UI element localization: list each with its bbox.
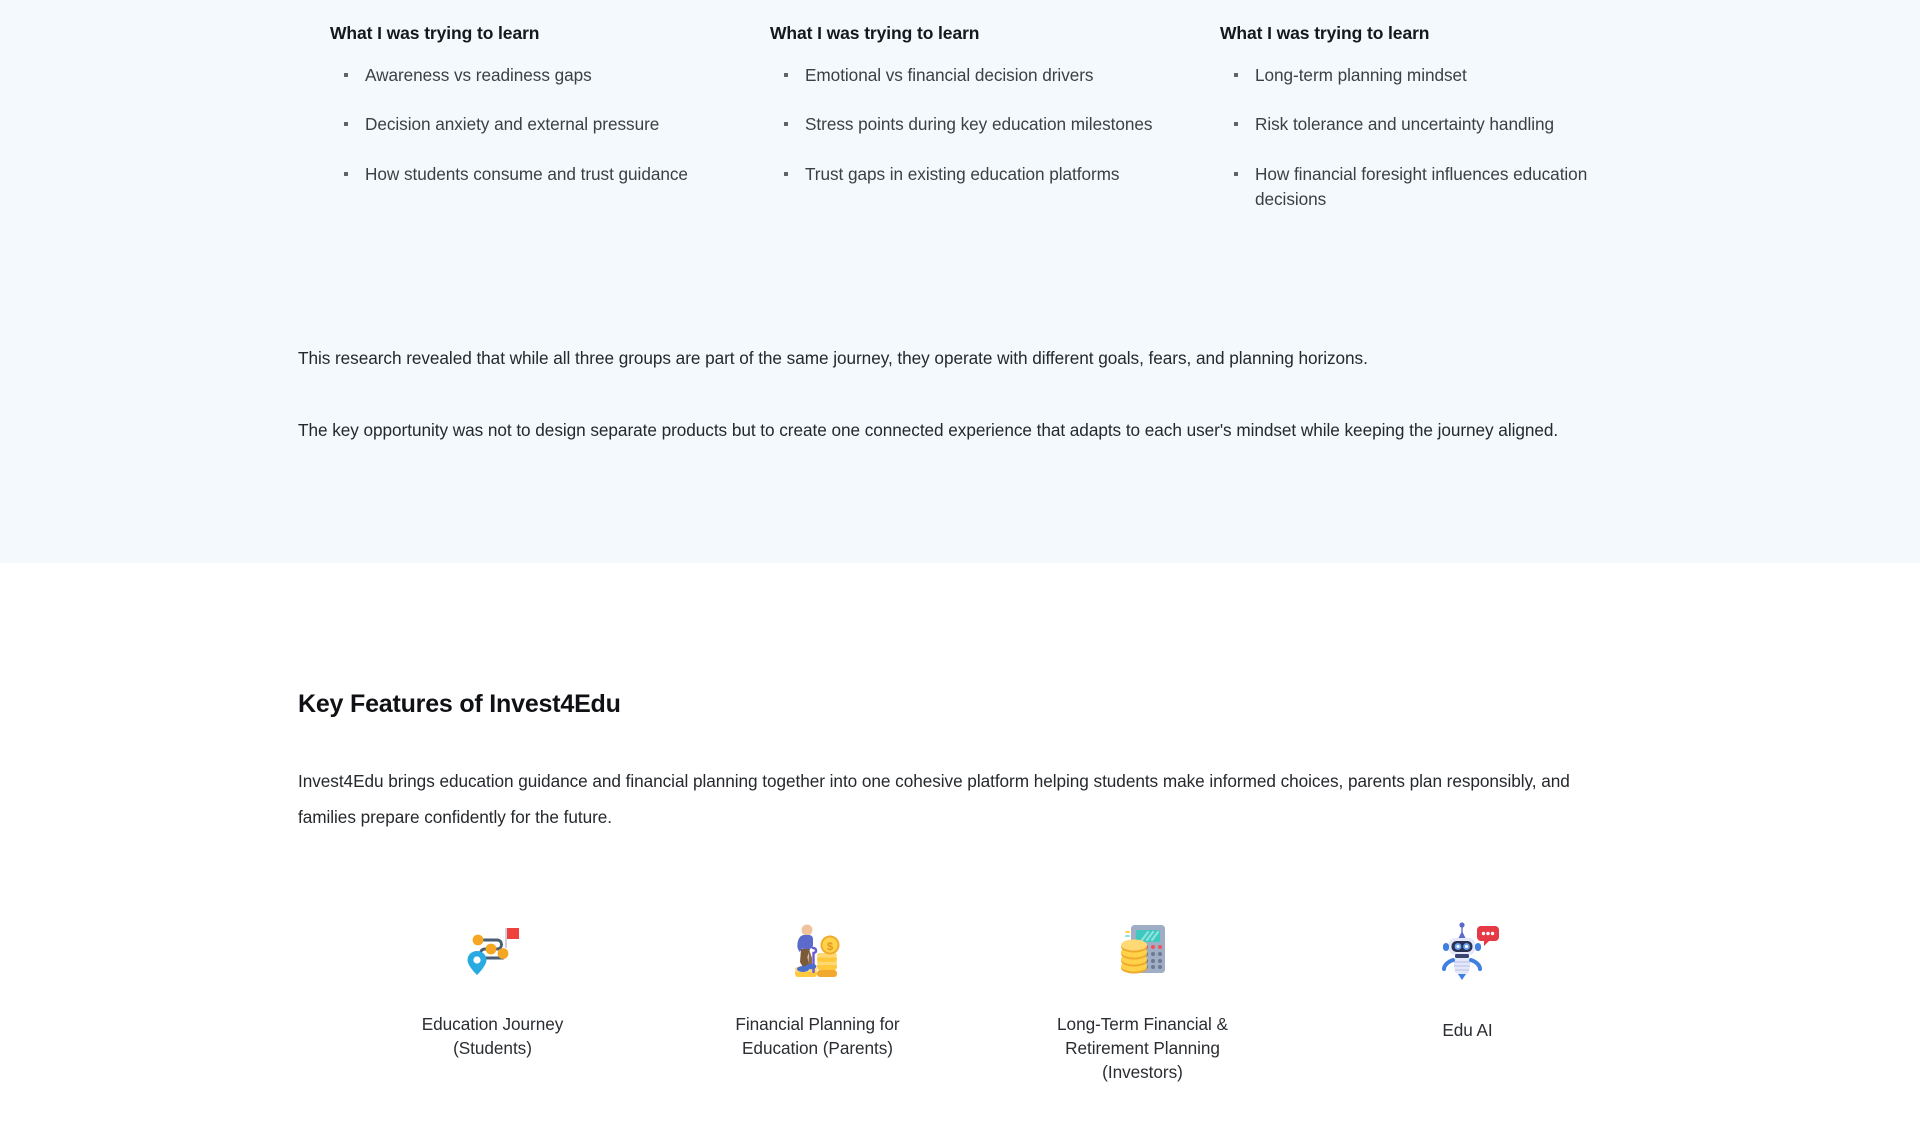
feature-label: Financial Planning for Education (Parent… — [718, 1012, 918, 1060]
list-item-label: Long-term planning mindset — [1255, 65, 1467, 85]
feature-item-retirement-planning[interactable]: Long-Term Financial & Retirement Plannin… — [980, 918, 1305, 1084]
feature-list: Education Journey (Students) — [330, 918, 1630, 1084]
list-item-label: Decision anxiety and external pressure — [365, 114, 659, 134]
summary-paragraph-1: This research revealed that while all th… — [298, 340, 1618, 376]
column-heading: What I was trying to learn — [1220, 22, 1590, 45]
list-item: Risk tolerance and uncertainty handling — [1228, 112, 1590, 137]
feature-item-education-journey[interactable]: Education Journey (Students) — [330, 918, 655, 1084]
coin-stairs-person-icon: $ — [785, 918, 851, 980]
research-summary: This research revealed that while all th… — [298, 340, 1618, 448]
list-item-label: Stress points during key education miles… — [805, 114, 1152, 134]
list-item: Trust gaps in existing education platfor… — [778, 162, 1180, 187]
research-columns: What I was trying to learn Awareness vs … — [330, 22, 1630, 213]
bullet-icon — [1234, 73, 1238, 77]
list-item-label: Risk tolerance and uncertainty handling — [1255, 114, 1554, 134]
learning-goals-list: Emotional vs financial decision drivers … — [770, 63, 1180, 187]
list-item: Emotional vs financial decision drivers — [778, 63, 1180, 88]
column-heading: What I was trying to learn — [330, 22, 730, 45]
learning-goals-list: Long-term planning mindset Risk toleranc… — [1220, 63, 1590, 213]
paragraph-spacer — [298, 376, 1618, 412]
list-item: Stress points during key education miles… — [778, 112, 1180, 137]
list-item: How financial foresight influences educa… — [1228, 162, 1590, 213]
feature-label: Long-Term Financial & Retirement Plannin… — [1043, 1012, 1243, 1084]
list-item: How students consume and trust guidance — [338, 162, 730, 187]
feature-item-edu-ai[interactable]: Edu AI — [1305, 918, 1630, 1084]
bullet-icon — [1234, 122, 1238, 126]
list-item-label: Emotional vs financial decision drivers — [805, 65, 1093, 85]
journey-roadmap-icon — [460, 918, 526, 980]
page-root: What I was trying to learn Awareness vs … — [0, 0, 1920, 1144]
list-item: Awareness vs readiness gaps — [338, 63, 730, 88]
key-features-section: Key Features of Invest4Edu Invest4Edu br… — [0, 563, 1920, 1144]
learning-goals-list: Awareness vs readiness gaps Decision anx… — [330, 63, 730, 187]
svg-text:$: $ — [826, 941, 832, 953]
column-heading: What I was trying to learn — [770, 22, 1180, 45]
bullet-icon — [784, 172, 788, 176]
section-intro: Invest4Edu brings education guidance and… — [298, 763, 1628, 835]
list-item-label: How financial foresight influences educa… — [1255, 164, 1587, 209]
calculator-coins-icon — [1110, 918, 1176, 980]
bullet-icon — [344, 122, 348, 126]
bullet-icon — [784, 122, 788, 126]
list-item-label: How students consume and trust guidance — [365, 164, 688, 184]
list-item-label: Trust gaps in existing education platfor… — [805, 164, 1119, 184]
list-item: Decision anxiety and external pressure — [338, 112, 730, 137]
feature-label: Edu AI — [1442, 1012, 1492, 1042]
research-column-students: What I was trying to learn Awareness vs … — [330, 22, 770, 213]
bullet-icon — [344, 73, 348, 77]
bullet-icon — [1234, 172, 1238, 176]
feature-label: Education Journey (Students) — [393, 1012, 593, 1060]
section-title: Key Features of Invest4Edu — [298, 690, 621, 719]
research-column-parents: What I was trying to learn Emotional vs … — [770, 22, 1220, 213]
research-column-investors: What I was trying to learn Long-term pla… — [1220, 22, 1630, 213]
summary-paragraph-2: The key opportunity was not to design se… — [298, 412, 1618, 448]
list-item-label: Awareness vs readiness gaps — [365, 65, 592, 85]
research-section: What I was trying to learn Awareness vs … — [0, 0, 1920, 563]
bullet-icon — [344, 172, 348, 176]
bullet-icon — [784, 73, 788, 77]
feature-item-financial-planning[interactable]: $ Financial Planning for Education (Pare… — [655, 918, 980, 1084]
robot-chat-icon — [1435, 918, 1501, 980]
list-item: Long-term planning mindset — [1228, 63, 1590, 88]
